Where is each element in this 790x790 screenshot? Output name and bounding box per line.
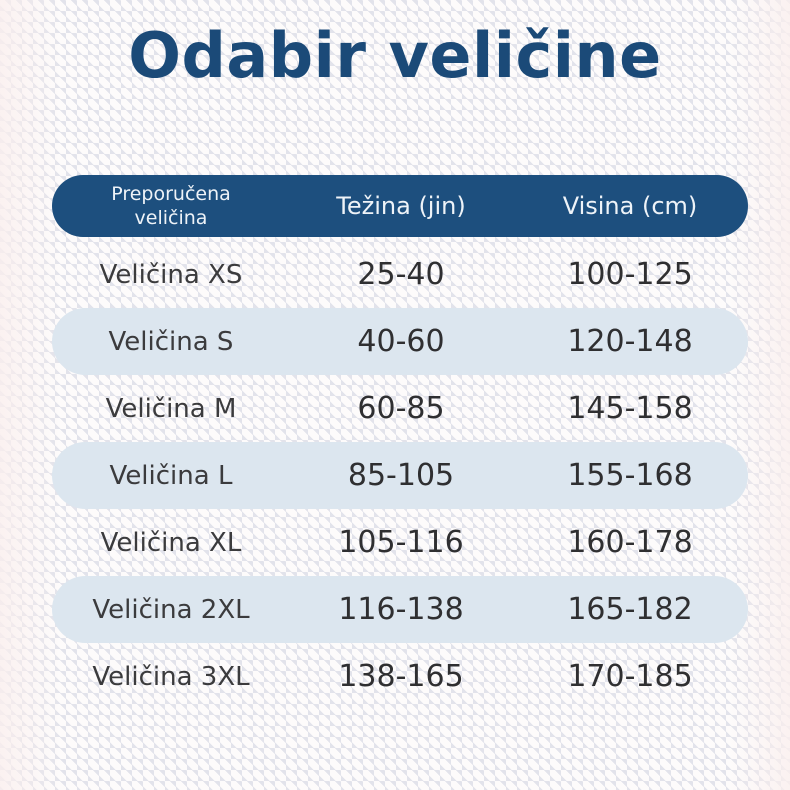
cell-size: Veličina L: [52, 461, 290, 491]
table-row: Veličina S 40-60 120-148: [52, 308, 748, 375]
cell-height: 160-178: [512, 525, 748, 560]
column-header-size: Preporučena veličina: [52, 182, 290, 231]
cell-size: Veličina XL: [52, 528, 290, 558]
size-chart-table: Preporučena veličina Težina (jin) Visina…: [52, 175, 748, 710]
column-header-size-line2: veličina: [52, 206, 290, 230]
cell-size: Veličina M: [52, 394, 290, 424]
table-row: Veličina XL 105-116 160-178: [52, 509, 748, 576]
cell-height: 165-182: [512, 592, 748, 627]
size-chart-page: Odabir veličine Preporučena veličina Tež…: [0, 0, 790, 790]
table-row: Veličina L 85-105 155-168: [52, 442, 748, 509]
page-title: Odabir veličine: [0, 23, 790, 88]
cell-size: Veličina XS: [52, 260, 290, 290]
cell-height: 100-125: [512, 257, 748, 292]
cell-weight: 25-40: [290, 257, 512, 292]
table-row: Veličina XS 25-40 100-125: [52, 241, 748, 308]
table-row: Veličina M 60-85 145-158: [52, 375, 748, 442]
cell-size: Veličina S: [52, 327, 290, 357]
table-header-row: Preporučena veličina Težina (jin) Visina…: [52, 175, 748, 237]
cell-weight: 116-138: [290, 592, 512, 627]
cell-weight: 105-116: [290, 525, 512, 560]
cell-weight: 138-165: [290, 659, 512, 694]
cell-height: 120-148: [512, 324, 748, 359]
cell-height: 155-168: [512, 458, 748, 493]
cell-size: Veličina 2XL: [52, 595, 290, 625]
cell-weight: 85-105: [290, 458, 512, 493]
cell-height: 145-158: [512, 391, 748, 426]
cell-weight: 60-85: [290, 391, 512, 426]
cell-height: 170-185: [512, 659, 748, 694]
table-row: Veličina 2XL 116-138 165-182: [52, 576, 748, 643]
table-row: Veličina 3XL 138-165 170-185: [52, 643, 748, 710]
cell-weight: 40-60: [290, 324, 512, 359]
column-header-height: Visina (cm): [512, 192, 748, 220]
cell-size: Veličina 3XL: [52, 662, 290, 692]
column-header-size-line1: Preporučena: [52, 182, 290, 206]
column-header-weight: Težina (jin): [290, 192, 512, 220]
